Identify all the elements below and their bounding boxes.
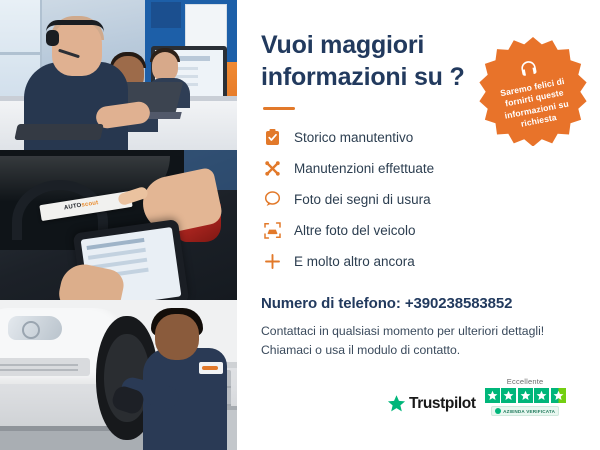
check-circle-icon	[495, 408, 501, 414]
headset-icon	[517, 57, 540, 80]
contact-text: Contattaci in qualsiasi momento per ulte…	[261, 322, 576, 360]
clipboard-check-icon	[261, 126, 283, 148]
star-box	[518, 388, 533, 403]
list-item-label: E molto altro ancora	[294, 254, 415, 269]
trustpilot-rating: Eccellente AZIENDA VERIFICATA	[485, 377, 566, 416]
feature-list: Storico manutentivo Manutenzi	[261, 126, 576, 272]
page-title: Vuoi maggiori informazioni su ?	[261, 30, 476, 93]
badge-text: Saremo felici di fornirti queste informa…	[490, 74, 581, 135]
list-item: Foto dei segni di usura	[261, 188, 576, 210]
list-item-label: Foto dei segni di usura	[294, 192, 431, 207]
content-panel: Vuoi maggiori informazioni su ? Storico …	[237, 0, 600, 450]
plus-icon	[261, 250, 283, 272]
list-item: Altre foto del veicolo	[261, 219, 576, 241]
list-item: E molto altro ancora	[261, 250, 576, 272]
trustpilot-wordmark: Trustpilot	[409, 395, 476, 413]
star-icon	[487, 390, 498, 401]
star-box	[501, 388, 516, 403]
verified-badge: AZIENDA VERIFICATA	[491, 406, 559, 416]
star-icon	[536, 390, 547, 401]
star-icon	[553, 390, 564, 401]
promo-banner: AUTOscout Vuoi maggiori informazioni su …	[0, 0, 600, 450]
rating-label: Eccellente	[507, 377, 544, 386]
callout-badge: Saremo felici di fornirti queste informa…	[478, 36, 588, 146]
list-item-label: Manutenzioni effettuate	[294, 161, 434, 176]
mechanic-wheel-photo	[0, 300, 237, 450]
speech-bubble-icon	[261, 188, 283, 210]
call-center-photo	[0, 0, 237, 150]
title-divider	[263, 107, 295, 110]
trustpilot-widget[interactable]: Trustpilot Eccellente AZIENDA VERIFICATA	[387, 377, 566, 416]
tools-cross-icon	[261, 157, 283, 179]
verified-label: AZIENDA VERIFICATA	[503, 409, 555, 414]
vehicle-inspection-photo: AUTOscout	[0, 150, 237, 300]
phone-number[interactable]: Numero di telefono: +390238583852	[261, 295, 576, 312]
list-item-label: Storico manutentivo	[294, 130, 413, 145]
star-icon	[520, 390, 531, 401]
contact-line-2: Chiamaci o usa il modulo di contatto.	[261, 341, 576, 360]
star-box	[485, 388, 500, 403]
contact-line-1: Contattaci in qualsiasi momento per ulte…	[261, 322, 576, 341]
star-icon	[387, 394, 406, 413]
trustpilot-logo: Trustpilot	[387, 394, 476, 416]
list-item: Manutenzioni effettuate	[261, 157, 576, 179]
star-rating	[485, 388, 566, 403]
star-box-half	[551, 388, 566, 403]
photo-column: AUTOscout	[0, 0, 237, 450]
list-item-label: Altre foto del veicolo	[294, 223, 416, 238]
car-frame-icon	[261, 219, 283, 241]
star-box	[534, 388, 549, 403]
star-icon	[503, 390, 514, 401]
